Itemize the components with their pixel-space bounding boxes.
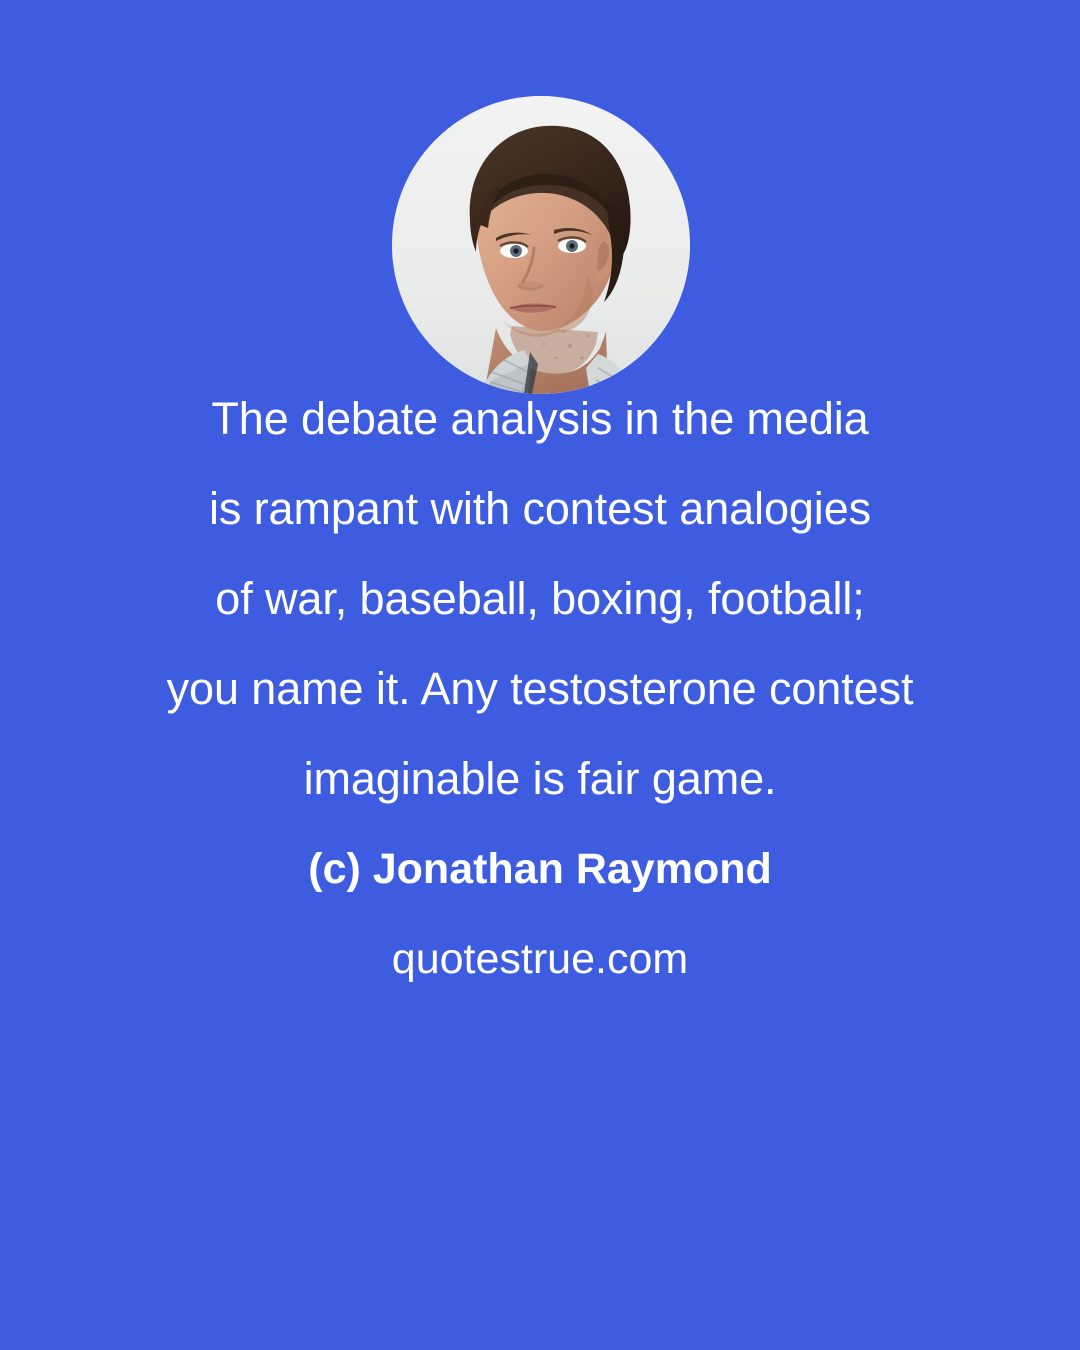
quote-line: you name it. Any testosterone contest [60, 644, 1020, 734]
quote-author: (c) Jonathan Raymond [0, 824, 1080, 914]
quote-text: The debate analysis in the media is ramp… [0, 374, 1080, 824]
text-block: The debate analysis in the media is ramp… [0, 374, 1080, 1004]
quote-line: The debate analysis in the media [60, 374, 1020, 464]
quote-source: quotestrue.com [0, 914, 1080, 1004]
quote-card: The debate analysis in the media is ramp… [0, 0, 1080, 1350]
quote-line: imaginable is fair game. [60, 734, 1020, 824]
portrait-image [392, 96, 690, 394]
quote-line: is rampant with contest analogies [60, 464, 1020, 554]
quote-line: of war, baseball, boxing, football; [60, 554, 1020, 644]
avatar [392, 96, 690, 394]
